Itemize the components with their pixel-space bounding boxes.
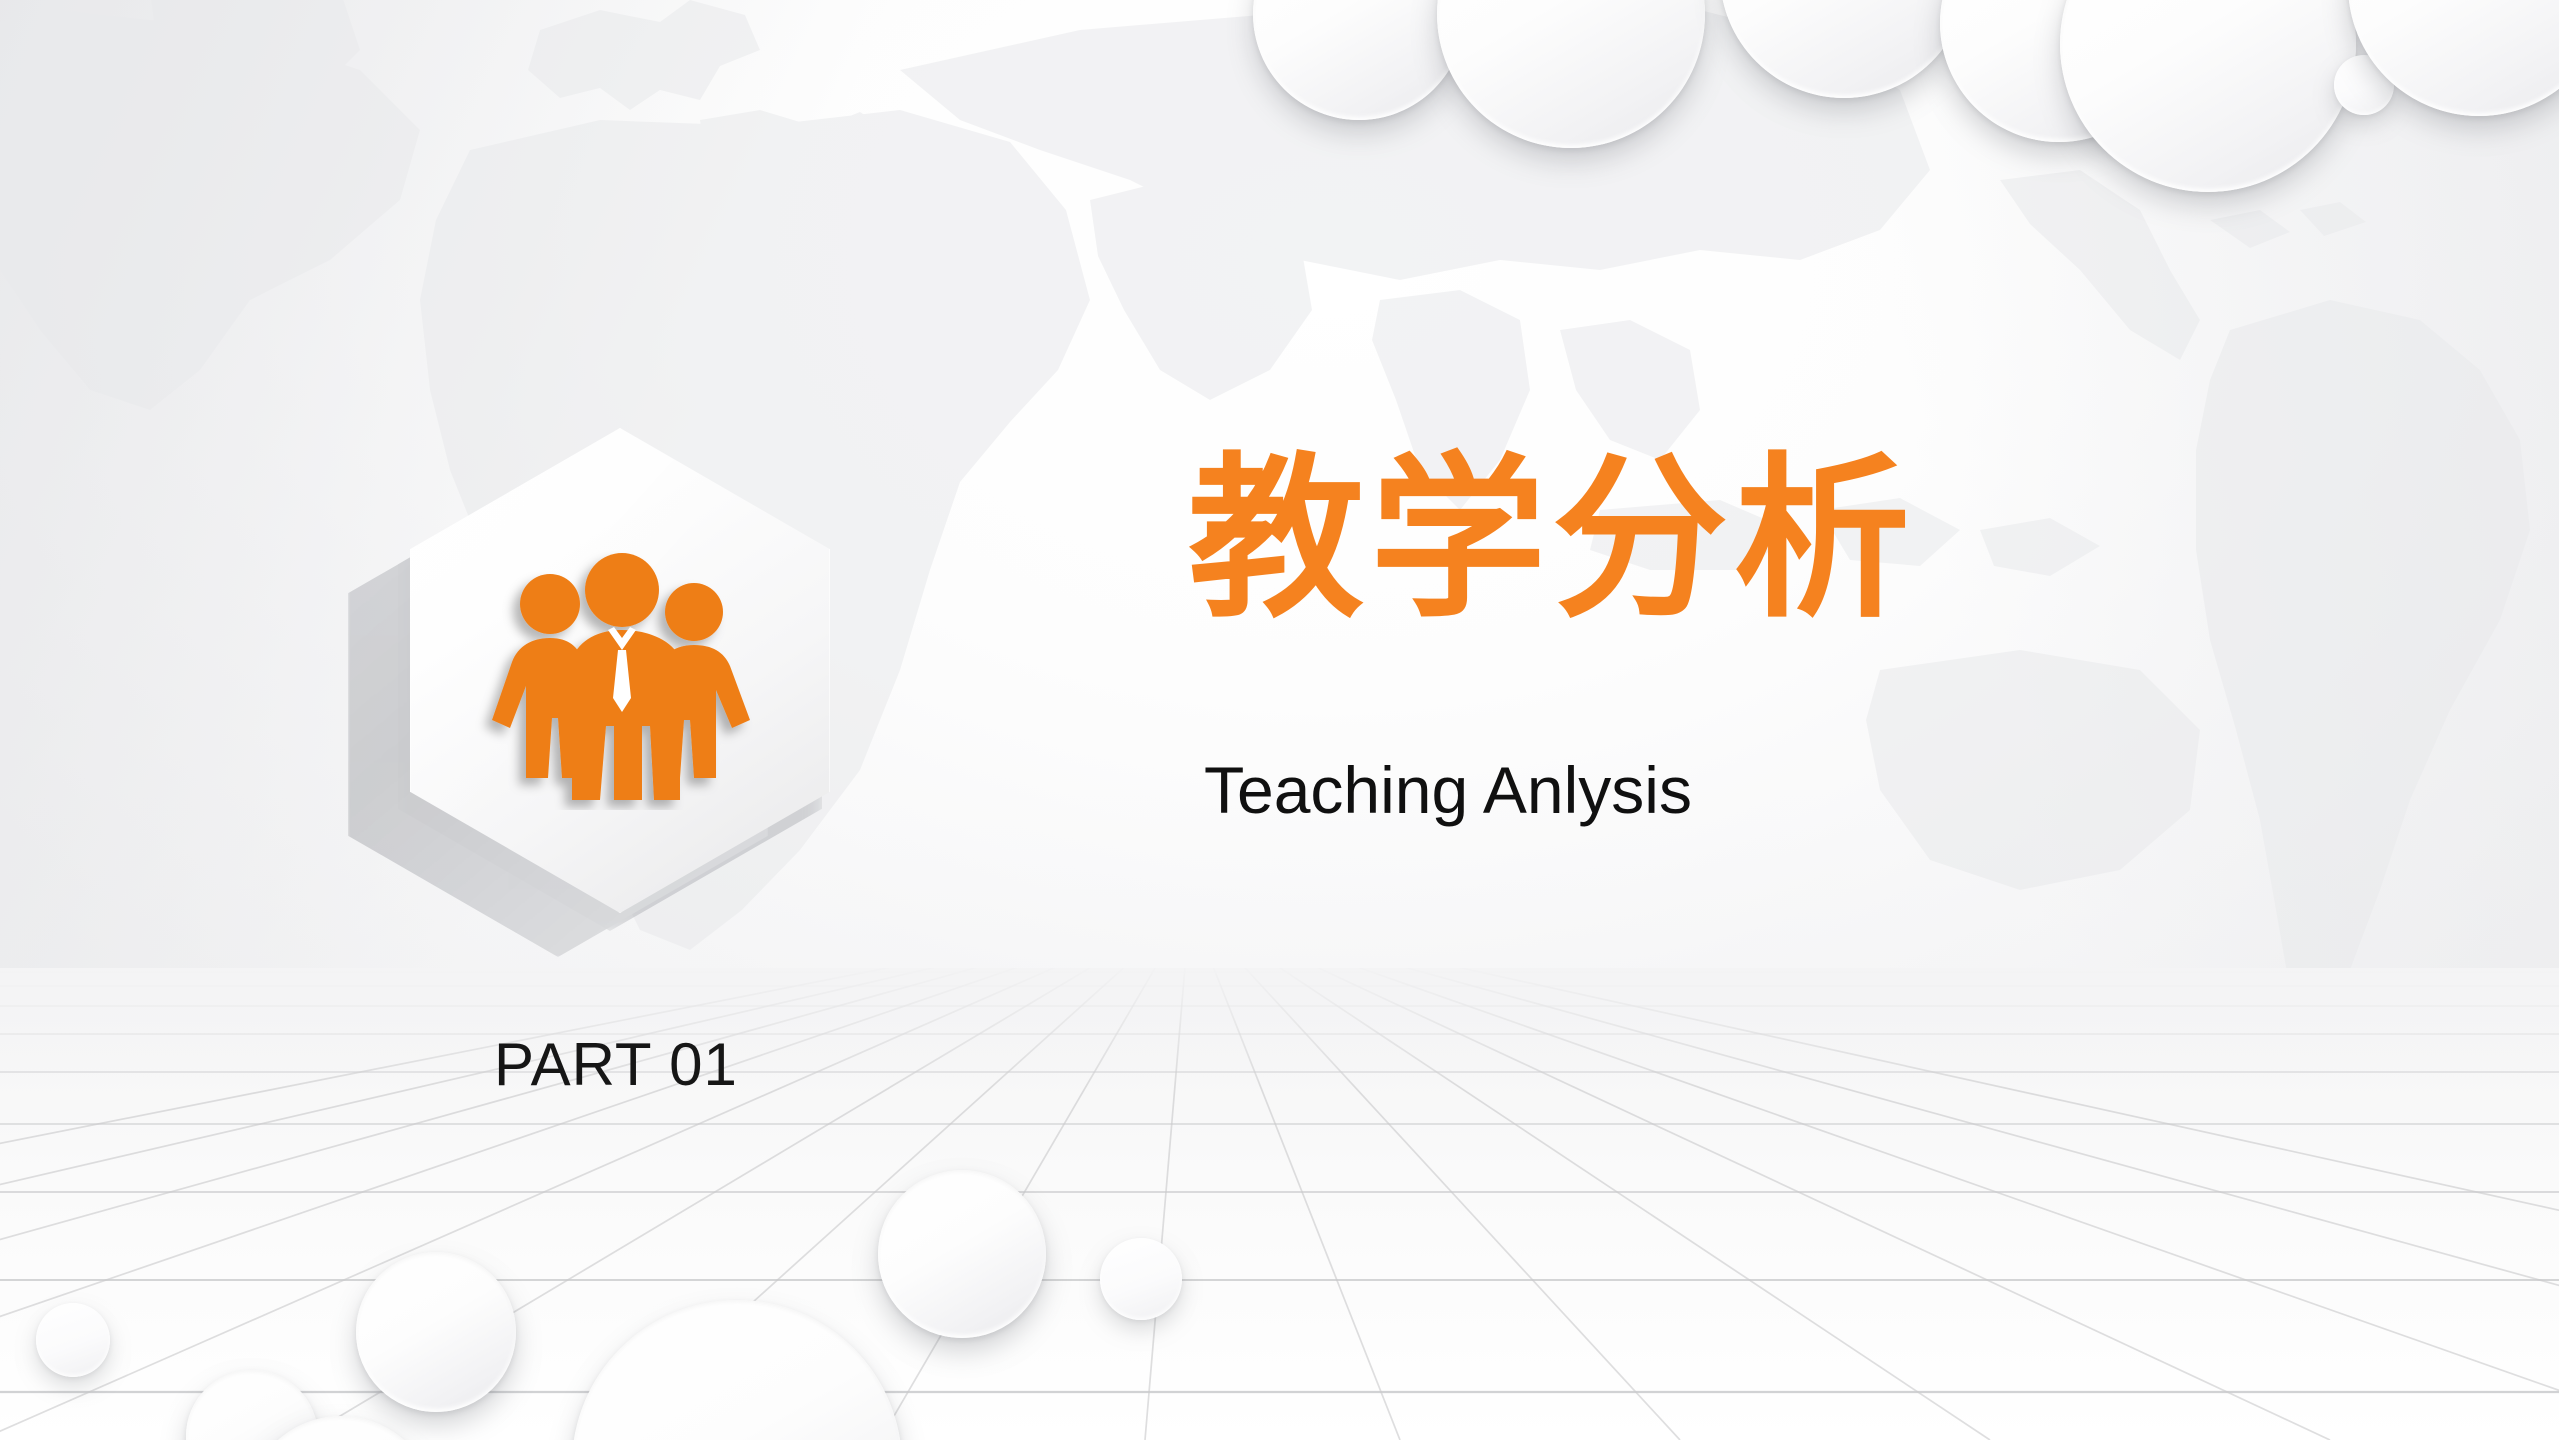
decor-circle xyxy=(1720,0,1968,98)
decor-circle xyxy=(878,1170,1046,1338)
presentation-slide: 教学分析 Teaching Anlysis PART 01 xyxy=(0,0,2559,1440)
decor-circle xyxy=(572,1300,902,1440)
hexagon-badge xyxy=(330,400,1010,1000)
page-subtitle: Teaching Anlysis xyxy=(1204,757,1692,823)
decor-circle xyxy=(36,1303,110,1377)
decor-circle xyxy=(2348,0,2559,116)
decor-circle xyxy=(356,1252,516,1412)
decor-circle xyxy=(246,1416,436,1440)
decor-circle xyxy=(1437,0,1705,148)
perspective-grid-floor xyxy=(0,968,2559,1440)
decor-circle xyxy=(2060,0,2356,192)
decor-circle xyxy=(1940,0,2178,142)
decor-circle xyxy=(1100,1238,1182,1320)
decor-circle xyxy=(1253,0,1465,120)
team-people-icon xyxy=(472,550,772,810)
page-title: 教学分析 xyxy=(1188,452,1916,628)
section-number-label: PART 01 xyxy=(494,1035,738,1095)
decor-circle xyxy=(2334,55,2394,115)
decor-circle xyxy=(186,1370,318,1440)
